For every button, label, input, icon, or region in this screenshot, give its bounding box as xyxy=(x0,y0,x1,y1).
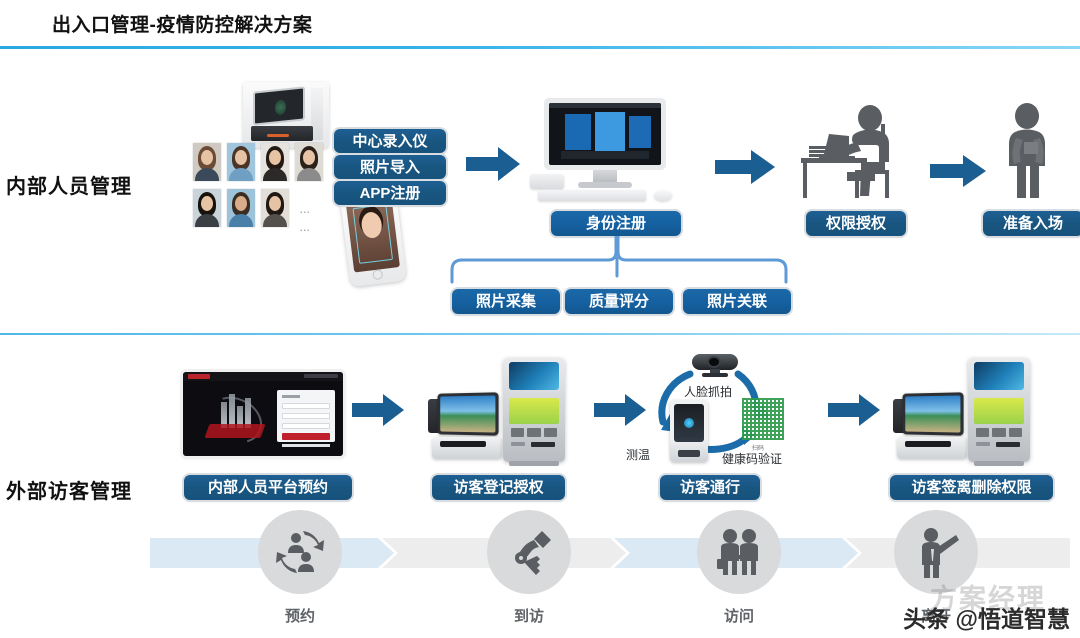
visitor-checkout-kiosk xyxy=(968,358,1030,466)
kiosk-print-slot xyxy=(996,442,1020,447)
page-title: 出入口管理-疫情防控解决方案 xyxy=(52,10,312,37)
id-photo xyxy=(193,143,221,181)
kiosk-foot xyxy=(974,461,1024,466)
registration-bracket xyxy=(450,236,790,291)
photo-grid-ellipsis-2: ... xyxy=(300,223,311,233)
flow-arrow-2 xyxy=(715,150,775,184)
visitor-flow-arrow-3 xyxy=(828,394,880,426)
journey-circle-2 xyxy=(487,510,571,594)
ready-person-icon xyxy=(1000,102,1056,200)
kiosk-upper-display[interactable] xyxy=(509,362,559,390)
users-cycle-icon xyxy=(273,525,327,579)
terminal-base xyxy=(251,126,313,141)
input-method-pill-1[interactable]: 中心录入仪 xyxy=(334,129,446,153)
enrollment-terminal-device xyxy=(243,82,329,148)
health-code-qr-icon xyxy=(742,398,784,440)
kiosk-buttons[interactable] xyxy=(511,428,557,437)
passage-label-right: 健康码验证 xyxy=(722,450,782,467)
photo-grid-ellipsis: ... xyxy=(300,205,311,215)
section-divider xyxy=(0,333,1080,335)
screen-hero-graphic xyxy=(205,394,265,442)
visitor-step-pill-3[interactable]: 访客通行 xyxy=(660,475,760,500)
journey-circle-3 xyxy=(697,510,781,594)
kiosk-print-slot xyxy=(531,442,555,447)
monitor-content xyxy=(549,103,661,165)
identity-registration-pill[interactable]: 身份注册 xyxy=(551,211,681,236)
monitor-screen xyxy=(544,98,666,170)
pos-base xyxy=(897,437,967,459)
registration-workstation xyxy=(530,98,680,202)
slide-canvas: 出入口管理-疫情防控解决方案 内部人员管理 外部访客管理 xyxy=(0,0,1080,638)
face-detect-frame xyxy=(352,204,393,264)
id-photo xyxy=(295,143,323,181)
header-divider xyxy=(0,46,1080,49)
visitor-step-pill-2[interactable]: 访客登记授权 xyxy=(432,475,565,500)
watermark-text: 头条 @悟道智慧 xyxy=(903,600,1070,634)
monitor-foot xyxy=(578,182,632,188)
visitor-step-pill-4[interactable]: 访客签离删除权限 xyxy=(890,475,1053,500)
kiosk-lower-display[interactable] xyxy=(509,398,559,424)
visitor-registration-pos xyxy=(428,393,506,463)
visitor-flow-arrow-1 xyxy=(352,394,404,426)
mouse xyxy=(654,190,672,201)
kiosk-card-slot xyxy=(976,442,990,446)
registration-child-pill-2[interactable]: 质量评分 xyxy=(565,289,673,314)
kiosk-upper-display[interactable] xyxy=(974,362,1024,390)
id-photo xyxy=(261,143,289,181)
person-waving-icon xyxy=(909,525,963,579)
pos-base xyxy=(432,437,502,459)
passage-label-top: 人脸抓拍 xyxy=(684,383,732,400)
temperature-terminal-icon xyxy=(670,400,708,462)
kiosk-foot xyxy=(509,461,559,466)
visitor-checkout-pos xyxy=(893,393,971,463)
id-photo-grid: ... ... xyxy=(193,143,333,235)
pos-screen xyxy=(902,392,963,435)
hand-key-icon xyxy=(502,525,556,579)
id-photo xyxy=(193,189,221,227)
visitor-step-pill-1[interactable]: 内部人员平台预约 xyxy=(184,475,352,500)
ready-to-enter-pill[interactable]: 准备入场 xyxy=(983,211,1080,236)
mini-pc xyxy=(530,174,564,189)
pos-screen xyxy=(437,392,498,435)
visitor-registration-kiosk xyxy=(503,358,565,466)
journey-step-label-2: 到访 xyxy=(487,605,571,626)
screen-topbar xyxy=(183,372,343,381)
flow-arrow-3 xyxy=(930,155,986,187)
two-visitors-icon xyxy=(712,525,766,579)
passage-cycle-group: 扫码 人脸抓拍 测温 健康码验证 xyxy=(630,352,810,472)
capture-camera-icon xyxy=(692,352,738,378)
login-submit-button[interactable] xyxy=(282,433,330,440)
id-photo xyxy=(261,189,289,227)
admin-at-desk-icon xyxy=(795,102,907,200)
phone-home-button xyxy=(372,269,383,280)
input-method-pill-3[interactable]: APP注册 xyxy=(334,181,446,205)
registration-child-pill-1[interactable]: 照片采集 xyxy=(452,289,560,314)
passage-label-left: 测温 xyxy=(626,446,650,463)
terminal-screen xyxy=(253,86,305,125)
kiosk-buttons[interactable] xyxy=(976,428,1022,437)
kiosk-card-slot xyxy=(511,442,525,446)
watermark: 头条 @悟道智慧 xyxy=(903,600,1070,634)
authorization-pill[interactable]: 权限授权 xyxy=(806,211,906,236)
login-form[interactable] xyxy=(277,390,335,442)
row-label-external: 外部访客管理 xyxy=(6,475,132,504)
input-method-pill-2[interactable]: 照片导入 xyxy=(334,155,446,179)
id-photo xyxy=(227,189,255,227)
visitor-platform-screen xyxy=(183,372,343,456)
phone-screen xyxy=(346,195,400,272)
kiosk-lower-display[interactable] xyxy=(974,398,1024,424)
id-photo xyxy=(227,143,255,181)
journey-step-label-1: 预约 xyxy=(258,605,342,626)
keyboard xyxy=(538,190,646,201)
registration-child-pill-3[interactable]: 照片关联 xyxy=(683,289,791,314)
journey-circle-1 xyxy=(258,510,342,594)
flow-arrow-1 xyxy=(466,147,520,181)
row-label-internal: 内部人员管理 xyxy=(6,170,132,199)
journey-step-label-3: 访问 xyxy=(697,605,781,626)
